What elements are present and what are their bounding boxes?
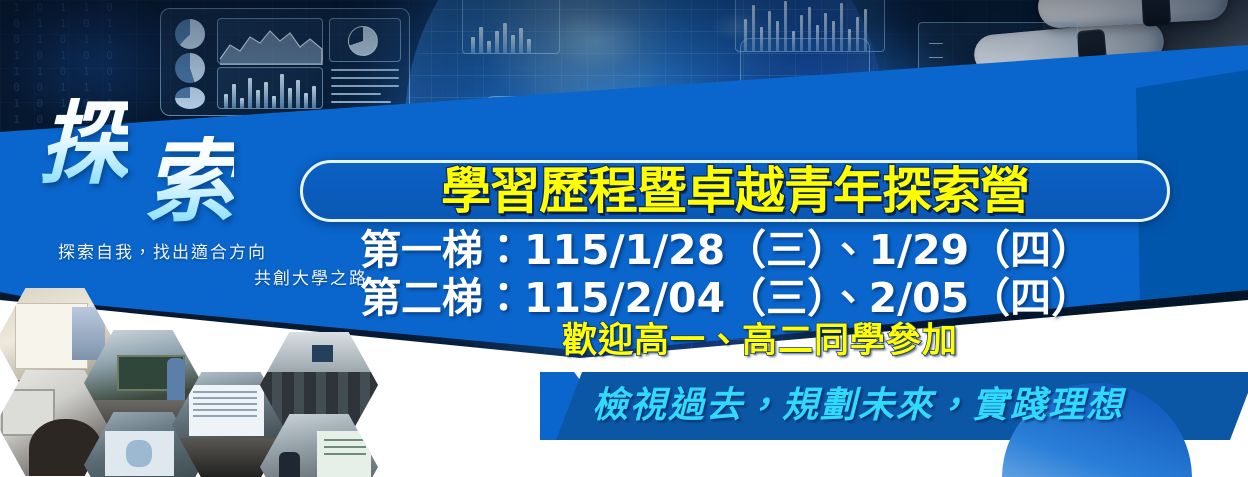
presentation-lines [324, 439, 366, 441]
tagline-text: 檢視過去，規劃未來，實踐理想 [592, 382, 1232, 430]
radar-chart-panel [329, 18, 401, 62]
event-banner: 0 1 0 1 1 0 1 0 1 1 0 1 0 0 1 0 1 1 1 1 … [0, 0, 1248, 477]
session-date-row: 第一梯：115/1/28（三）、1/29（四） [360, 226, 1160, 274]
page-title: 學習歷程暨卓越青年探索營 [441, 166, 1029, 216]
subtitle-block: 探索自我，找出適合方向 共創大學之路 [58, 240, 368, 292]
pie-chart-1 [175, 19, 205, 49]
subtitle-line-2: 共創大學之路 [58, 266, 368, 292]
main-title-pill: 學習歷程暨卓越青年探索營 [300, 160, 1170, 222]
session-date-row: 第二梯：115/2/04（三）、2/05（四） [360, 274, 1160, 322]
subtitle-line-1: 探索自我，找出適合方向 [58, 243, 267, 263]
welcome-notice: 歡迎高一、高二同學參加 [360, 320, 1160, 362]
pie-chart-3 [175, 87, 205, 109]
dashboard-hud-icon [160, 8, 410, 116]
mini-hud-panel-left [462, 0, 560, 54]
robot-ring-knuckle [1141, 0, 1171, 27]
area-chart-panel [217, 18, 323, 64]
presentation-screen [317, 431, 371, 477]
bar-chart-panel-small [217, 67, 323, 109]
speaker-face [126, 440, 152, 468]
presenter [279, 452, 300, 477]
pie-chart-2 [175, 53, 205, 83]
slide-table-rows [193, 391, 257, 393]
hall-monitor [312, 345, 333, 362]
poster-city-graphic [72, 307, 105, 360]
session-dates: 第一梯：115/1/28（三）、1/29（四） 第二梯：115/2/04（三）、… [360, 226, 1160, 322]
